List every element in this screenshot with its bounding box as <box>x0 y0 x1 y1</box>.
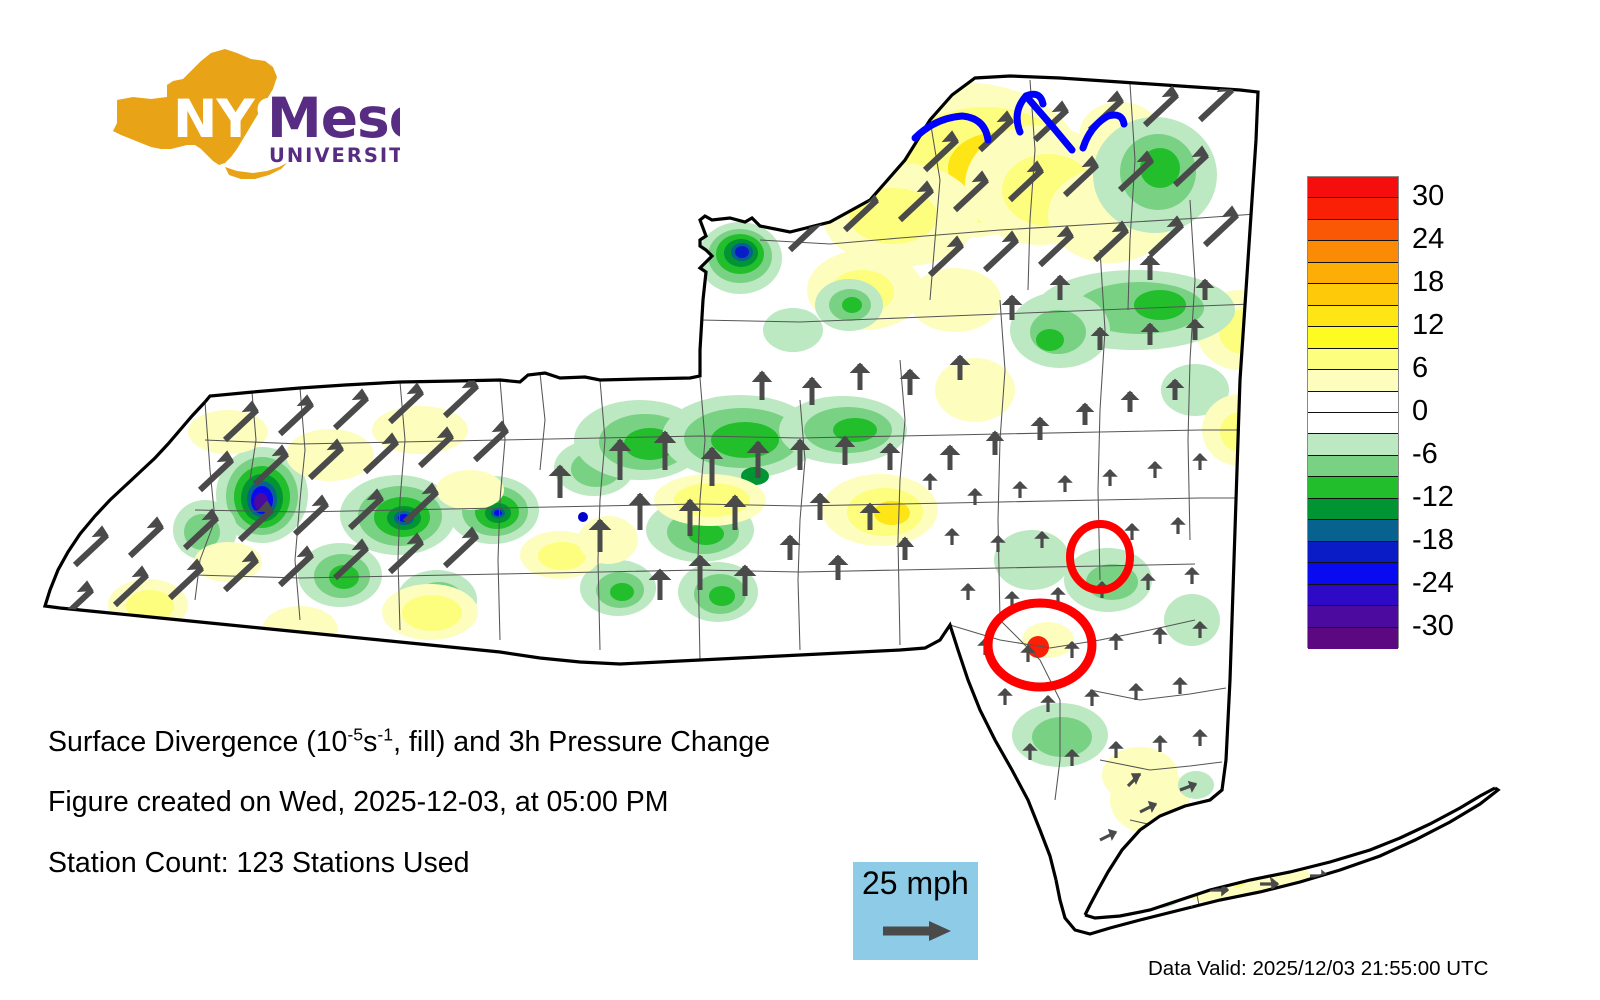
colorbar-band-11 <box>1308 413 1398 434</box>
colorbar-band-19 <box>1308 585 1398 606</box>
colorbar-tick--24: -24 <box>1412 569 1454 598</box>
colorbar-band-5 <box>1308 284 1398 305</box>
colorbar-band-0 <box>1308 177 1398 198</box>
station-marker <box>578 512 588 522</box>
wind-key-arrow-icon <box>881 918 953 944</box>
colorbar-tick-24: 24 <box>1412 225 1444 254</box>
wind-reference-vector-key: 25 mph <box>853 862 978 960</box>
colorbar-band-6 <box>1308 306 1398 327</box>
colorbar-band-12 <box>1308 434 1398 455</box>
colorbar-tick--18: -18 <box>1412 526 1454 555</box>
colorbar-band-17 <box>1308 542 1398 563</box>
title-exponent-1: -5 <box>347 725 363 745</box>
colorbar-band-7 <box>1308 327 1398 348</box>
colorbar-band-21 <box>1308 628 1398 649</box>
title-post: , fill) and 3h Pressure Change <box>393 726 770 758</box>
colorbar-band-3 <box>1308 241 1398 262</box>
colorbar-tick-6: 6 <box>1412 354 1428 383</box>
colorbar-band-8 <box>1308 349 1398 370</box>
colorbar-band-2 <box>1308 220 1398 241</box>
colorbar-tick--30: -30 <box>1412 612 1454 641</box>
wind-key-label: 25 mph <box>862 865 969 902</box>
colorbar-band-14 <box>1308 477 1398 498</box>
figure-title: Surface Divergence (10-5s-1, fill) and 3… <box>48 726 770 759</box>
colorbar-band-13 <box>1308 456 1398 477</box>
station-count-text: Station Count: 123 Stations Used <box>48 847 469 880</box>
colorbar-tick-18: 18 <box>1412 268 1444 297</box>
colorbar-band-18 <box>1308 563 1398 584</box>
colorbar-band-4 <box>1308 263 1398 284</box>
title-mid: s <box>363 726 377 758</box>
colorbar-band-9 <box>1308 370 1398 391</box>
colorbar <box>1307 176 1399 648</box>
colorbar-band-15 <box>1308 499 1398 520</box>
colorbar-tick-labels: 3024181260-6-12-18-24-30 <box>1412 176 1522 648</box>
logo-subtitle-text: UNIVERSITY AT ALBANY <box>269 144 400 167</box>
figure-canvas: NYS Mesonet UNIVERSITY AT ALBANY 3024181… <box>0 0 1600 1000</box>
colorbar-band-16 <box>1308 520 1398 541</box>
colorbar-tick-30: 30 <box>1412 182 1444 211</box>
nys-mesonet-logo: NYS Mesonet UNIVERSITY AT ALBANY <box>55 45 400 190</box>
logo-mesonet-text: Mesonet <box>267 86 400 150</box>
colorbar-band-20 <box>1308 606 1398 627</box>
colorbar-tick--12: -12 <box>1412 483 1454 512</box>
title-pre: Surface Divergence (10 <box>48 726 347 758</box>
figure-created-text: Figure created on Wed, 2025-12-03, at 05… <box>48 786 669 819</box>
title-exponent-2: -1 <box>377 725 393 745</box>
colorbar-tick--6: -6 <box>1412 440 1438 469</box>
colorbar-tick-12: 12 <box>1412 311 1444 340</box>
data-valid-text: Data Valid: 2025/12/03 21:55:00 UTC <box>1148 957 1488 981</box>
colorbar-band-10 <box>1308 392 1398 413</box>
colorbar-band-1 <box>1308 198 1398 219</box>
colorbar-tick-0: 0 <box>1412 397 1428 426</box>
